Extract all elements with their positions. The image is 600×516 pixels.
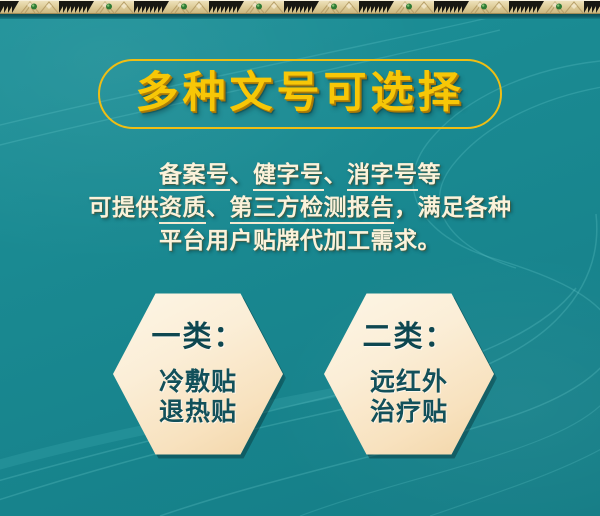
top-border-underline: [0, 14, 600, 19]
plain-text: 、: [324, 161, 348, 188]
plain-text: 、: [206, 194, 230, 221]
hexagon-one-items: 冷敷贴 退热贴: [159, 367, 237, 427]
plain-text: 、: [230, 161, 254, 188]
list-item: 远红外: [370, 367, 448, 397]
list-item: 退热贴: [159, 397, 237, 427]
title-badge: 多种文号可选择: [98, 59, 502, 129]
emphasised-term: 资质: [159, 194, 206, 224]
description-line-1: 备案号、健字号、消字号等: [0, 158, 600, 191]
promo-poster: 多种文号可选择 备案号、健字号、消字号等可提供资质、第三方检测报告，满足各种平台…: [0, 0, 600, 516]
plain-text: 可提供: [89, 194, 160, 221]
emphasised-term: 消字号: [347, 161, 418, 191]
list-item: 冷敷贴: [159, 367, 237, 397]
emphasised-term: 备案号: [159, 161, 230, 191]
hexagon-two-title: 二类：: [362, 322, 455, 351]
page-title: 多种文号可选择: [136, 72, 465, 117]
emphasised-term: 健字号: [253, 161, 324, 191]
plain-text: 等: [418, 161, 442, 188]
hexagon-two-items: 远红外 治疗贴: [370, 367, 448, 427]
hexagon-one-title: 一类：: [151, 322, 244, 351]
description-line-3: 平台用户贴牌代加工需求。: [0, 224, 600, 257]
plain-text: 平台用户贴牌代加工需求。: [159, 227, 441, 254]
category-hexagon-two: 二类： 远红外 治疗贴: [324, 291, 494, 457]
category-hexagon-one: 一类： 冷敷贴 退热贴: [113, 291, 283, 457]
description-paragraph: 备案号、健字号、消字号等可提供资质、第三方检测报告，满足各种平台用户贴牌代加工需…: [0, 158, 600, 257]
plain-text: ，满足各种: [394, 194, 512, 221]
list-item: 治疗贴: [370, 397, 448, 427]
emphasised-term: 第三方检测报告: [230, 194, 395, 224]
top-ornamental-border: [0, 0, 600, 14]
description-line-2: 可提供资质、第三方检测报告，满足各种: [0, 191, 600, 224]
